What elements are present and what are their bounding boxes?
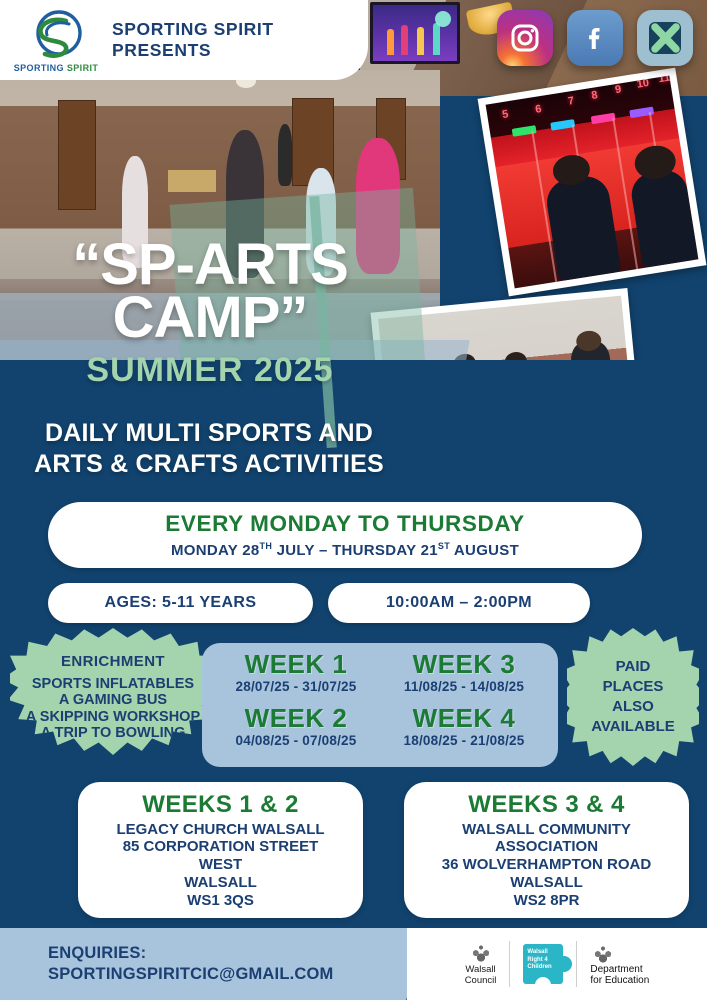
enrichment-item: A GAMING BUS: [26, 692, 200, 708]
bowling-photo: 5 6 7 8 9 10 11: [478, 68, 707, 297]
paid-places-text: PAID PLACES ALSO AVAILABLE: [591, 657, 675, 737]
tagline-line-2: ARTS & CRAFTS ACTIVITIES: [0, 449, 418, 480]
tv-dancer: [387, 29, 394, 55]
sporting-spirit-logo: SPORTING SPIRIT: [6, 2, 106, 78]
logo-swirl-icon: [25, 8, 87, 62]
schedule-days: EVERY MONDAY TO THURSDAY: [165, 511, 525, 537]
tv-dancer: [417, 27, 424, 55]
walsall-council-logo: Walsall Council: [452, 941, 510, 987]
dfe-label: Department for Education: [590, 964, 649, 987]
bowling-photo-inner: 5 6 7 8 9 10 11: [486, 76, 699, 289]
venue-address-line: 85 CORPORATION STREET: [116, 838, 324, 856]
gaming-tv-photo: [370, 2, 460, 64]
facebook-icon[interactable]: [567, 10, 623, 66]
week-name: WEEK 4: [380, 705, 548, 732]
venue-card-weeks-1-2: WEEKS 1 & 2 LEGACY CHURCH WALSALL 85 COR…: [78, 782, 363, 918]
venue-address: WALSALL COMMUNITY ASSOCIATION 36 WOLVERH…: [442, 821, 651, 909]
footer-enquiries-panel: ENQUIRIES: SPORTINGSPIRITCIC@GMAIL.COM: [0, 928, 432, 1000]
enrichment-item: A SKIPPING WORKSHOP: [26, 709, 200, 725]
enquiries-email[interactable]: SPORTINGSPIRITCIC@GMAIL.COM: [48, 964, 334, 985]
ages-pill: AGES: 5-11 YEARS: [48, 583, 313, 623]
venue-address-line: ASSOCIATION: [442, 838, 651, 856]
header-title: SPORTING SPIRIT PRESENTS: [112, 19, 368, 61]
enquiries-label: ENQUIRIES:: [48, 943, 334, 964]
walsall-right-4-children-logo: Walsall Right 4 Children: [509, 941, 576, 987]
puzzle-piece-icon: Walsall Right 4 Children: [523, 944, 563, 984]
week-cell: WEEK 1 28/07/25 - 31/07/25: [212, 651, 380, 705]
enrichment-title: ENRICHMENT: [61, 653, 165, 670]
time-pill: 10:00AM – 2:00PM: [328, 583, 590, 623]
header-bar: SPORTING SPIRIT SPORTING SPIRIT PRESENTS: [0, 0, 368, 80]
venue-address-line: WS2 8PR: [442, 892, 651, 910]
adult-figure: [278, 124, 292, 186]
paid-places-line: ALSO: [591, 697, 675, 717]
x-icon[interactable]: [637, 10, 693, 66]
date-sup-2: ST: [438, 541, 450, 551]
logo-word-2: SPIRIT: [67, 63, 98, 73]
week-dates: 18/08/25 - 21/08/25: [380, 733, 548, 748]
partner-name-line: for Education: [590, 975, 649, 987]
footer-partner-logos: Walsall Council Walsall Right 4 Children…: [407, 928, 707, 1000]
week-cell: WEEK 2 04/08/25 - 07/08/25: [212, 705, 380, 759]
week-dates: 04/08/25 - 07/08/25: [212, 733, 380, 748]
puzzle-label: Walsall Right 4 Children: [527, 949, 551, 972]
venue-address-line: LEGACY CHURCH WALSALL: [116, 821, 324, 839]
venue-address-line: WS1 3QS: [116, 892, 324, 910]
venue-address-line: WALSALL COMMUNITY: [442, 821, 651, 839]
venue-title: WEEKS 3 & 4: [468, 791, 624, 819]
department-for-education-logo: Department for Education: [576, 941, 662, 987]
date-mid: JULY – THURSDAY 21: [272, 542, 438, 559]
date-pre: MONDAY 28: [171, 542, 260, 559]
footer-enquiries-text: ENQUIRIES: SPORTINGSPIRITCIC@GMAIL.COM: [48, 943, 334, 984]
partner-name-line: Right 4: [527, 957, 551, 965]
paid-places-line: AVAILABLE: [591, 717, 675, 737]
paid-places-line: PAID: [591, 657, 675, 677]
venue-address-line: 36 WOLVERHAMPTON ROAD: [442, 856, 651, 874]
walsall-crest-icon: [468, 941, 494, 963]
partner-name-line: Children: [527, 964, 551, 972]
schedule-date-range: MONDAY 28TH JULY – THURSDAY 21ST AUGUST: [171, 541, 519, 559]
venue-title: WEEKS 1 & 2: [142, 791, 298, 819]
poster-root: 5 6 7 8 9 10 11: [0, 0, 707, 1000]
royal-crest-icon: [590, 942, 616, 964]
tagline-line-1: DAILY MULTI SPORTS AND: [0, 418, 418, 449]
weeks-panel: WEEK 1 28/07/25 - 31/07/25 WEEK 3 11/08/…: [202, 643, 558, 767]
venue-card-weeks-3-4: WEEKS 3 & 4 WALSALL COMMUNITY ASSOCIATIO…: [404, 782, 689, 918]
enrichment-list: SPORTS INFLATABLES A GAMING BUS A SKIPPI…: [26, 676, 200, 741]
hall-door: [58, 100, 96, 210]
venue-address-line: WALSALL: [116, 874, 324, 892]
child-figure: [629, 167, 699, 268]
partner-name-line: Council: [465, 976, 497, 987]
date-sup-1: TH: [260, 541, 273, 551]
paid-places-line: PLACES: [591, 677, 675, 697]
footer: ENQUIRIES: SPORTINGSPIRITCIC@GMAIL.COM W…: [0, 928, 707, 1000]
tv-dancer: [433, 23, 440, 55]
child-figure: [543, 172, 621, 281]
venue-address-line: WALSALL: [442, 874, 651, 892]
week-name: WEEK 1: [212, 651, 380, 678]
child-figure: [122, 156, 148, 268]
logo-wordmark: SPORTING SPIRIT: [14, 63, 99, 73]
partner-name-line: Department: [590, 964, 649, 976]
week-cell: WEEK 3 11/08/25 - 14/08/25: [380, 651, 548, 705]
week-name: WEEK 3: [380, 651, 548, 678]
venue-address-line: WEST: [116, 856, 324, 874]
tv-glow: [435, 11, 451, 27]
instagram-icon[interactable]: [497, 10, 553, 66]
logo-word-1: SPORTING: [14, 63, 64, 73]
walsall-council-label: Walsall Council: [465, 965, 497, 986]
week-name: WEEK 2: [212, 705, 380, 732]
enrichment-item: SPORTS INFLATABLES: [26, 676, 200, 692]
tv-dancer: [401, 25, 408, 55]
partner-name-line: Walsall: [527, 949, 551, 957]
schedule-banner: EVERY MONDAY TO THURSDAY MONDAY 28TH JUL…: [48, 502, 642, 568]
week-dates: 28/07/25 - 31/07/25: [212, 679, 380, 694]
week-cell: WEEK 4 18/08/25 - 21/08/25: [380, 705, 548, 759]
week-dates: 11/08/25 - 14/08/25: [380, 679, 548, 694]
date-post: AUGUST: [450, 542, 519, 559]
hero-tagline: DAILY MULTI SPORTS AND ARTS & CRAFTS ACT…: [0, 418, 418, 481]
venue-address: LEGACY CHURCH WALSALL 85 CORPORATION STR…: [116, 821, 324, 909]
social-icons-row: [497, 10, 693, 66]
hall-table: [168, 170, 216, 192]
